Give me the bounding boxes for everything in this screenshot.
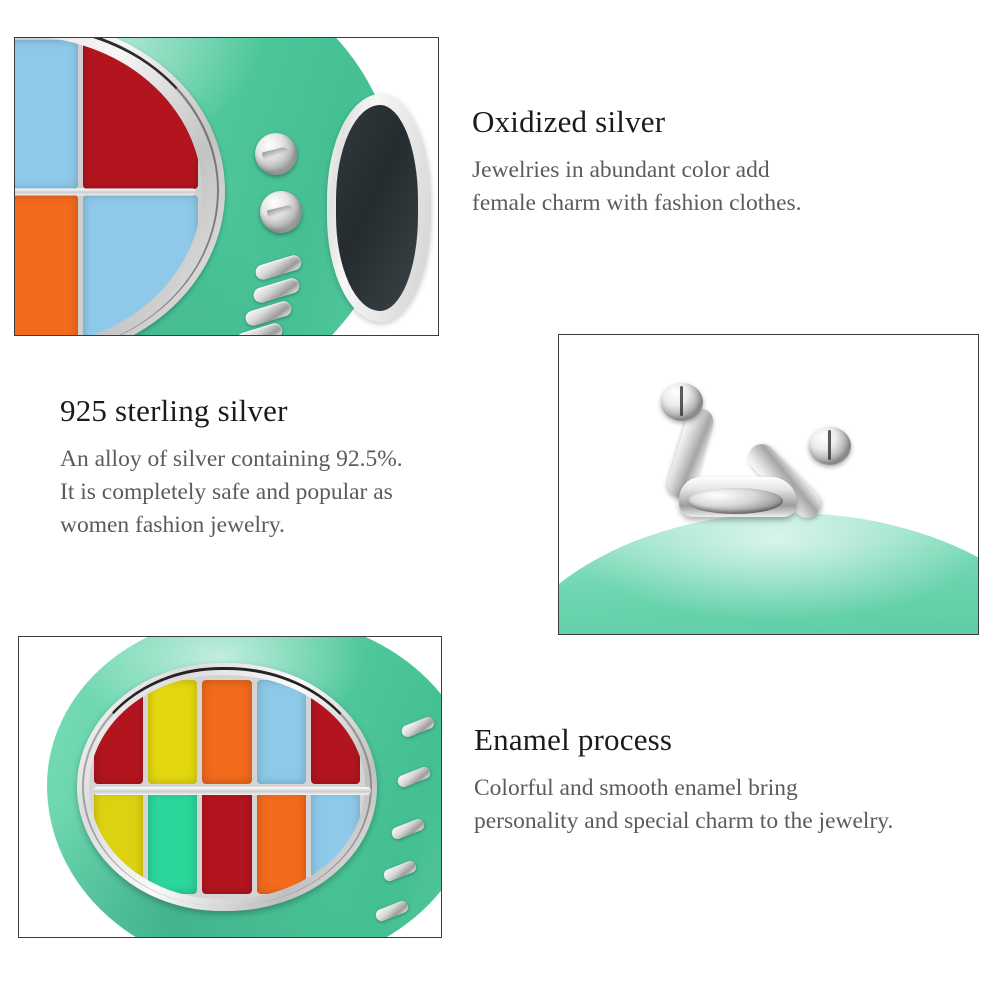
- feature-text-enamel-process: Enamel process Colorful and smooth ename…: [474, 722, 1001, 838]
- feature-title: Oxidized silver: [472, 104, 942, 140]
- antenna-ball-right: [809, 427, 851, 465]
- antenna-base: [679, 477, 797, 517]
- feature-body-line: personality and special charm to the jew…: [474, 805, 1001, 838]
- enamel-cell: [148, 680, 197, 784]
- feature-body-line: female charm with fashion clothes.: [472, 187, 942, 220]
- photo-panel-oxidized-silver[interactable]: [14, 37, 439, 336]
- enamel-body-green: [559, 513, 978, 634]
- enamel-cell: [15, 40, 78, 189]
- feature-body-line: Jewelries in abundant color add: [472, 154, 942, 187]
- photo-panel-enamel-process[interactable]: [18, 636, 442, 938]
- oxidized-silver-side-face: [327, 94, 431, 322]
- photo-panel-antenna[interactable]: [558, 334, 979, 635]
- enamel-cell: [202, 680, 251, 784]
- enamel-cell: [257, 790, 306, 894]
- feature-title: Enamel process: [474, 722, 1001, 758]
- enamel-cell: [148, 790, 197, 894]
- product-photo-enamel-process: [19, 637, 441, 937]
- product-photo-antenna: [559, 335, 978, 634]
- feature-body-line: An alloy of silver containing 92.5%.: [60, 443, 510, 476]
- feature-body-line: Colorful and smooth enamel bring: [474, 772, 1001, 805]
- screen-divider-bar: [15, 189, 196, 196]
- feature-text-sterling-silver: 925 sterling silver An alloy of silver c…: [60, 393, 510, 543]
- feature-body: An alloy of silver containing 92.5%. It …: [60, 443, 510, 543]
- enamel-cell: [15, 195, 78, 335]
- screen-divider-bar: [93, 787, 371, 795]
- antenna-ball-left: [661, 383, 703, 421]
- feature-body-line: women fashion jewelry.: [60, 509, 510, 542]
- product-photo-oxidized-silver: [15, 38, 438, 335]
- feature-title: 925 sterling silver: [60, 393, 510, 429]
- feature-text-oxidized-silver: Oxidized silver Jewelries in abundant co…: [472, 104, 942, 220]
- enamel-cell: [202, 790, 251, 894]
- feature-body: Jewelries in abundant color add female c…: [472, 154, 942, 221]
- tv-knob-icon: [260, 191, 302, 233]
- feature-body: Colorful and smooth enamel bring persona…: [474, 772, 1001, 839]
- enamel-cell: [257, 680, 306, 784]
- feature-body-line: It is completely safe and popular as: [60, 476, 510, 509]
- tv-knob-icon: [255, 133, 297, 175]
